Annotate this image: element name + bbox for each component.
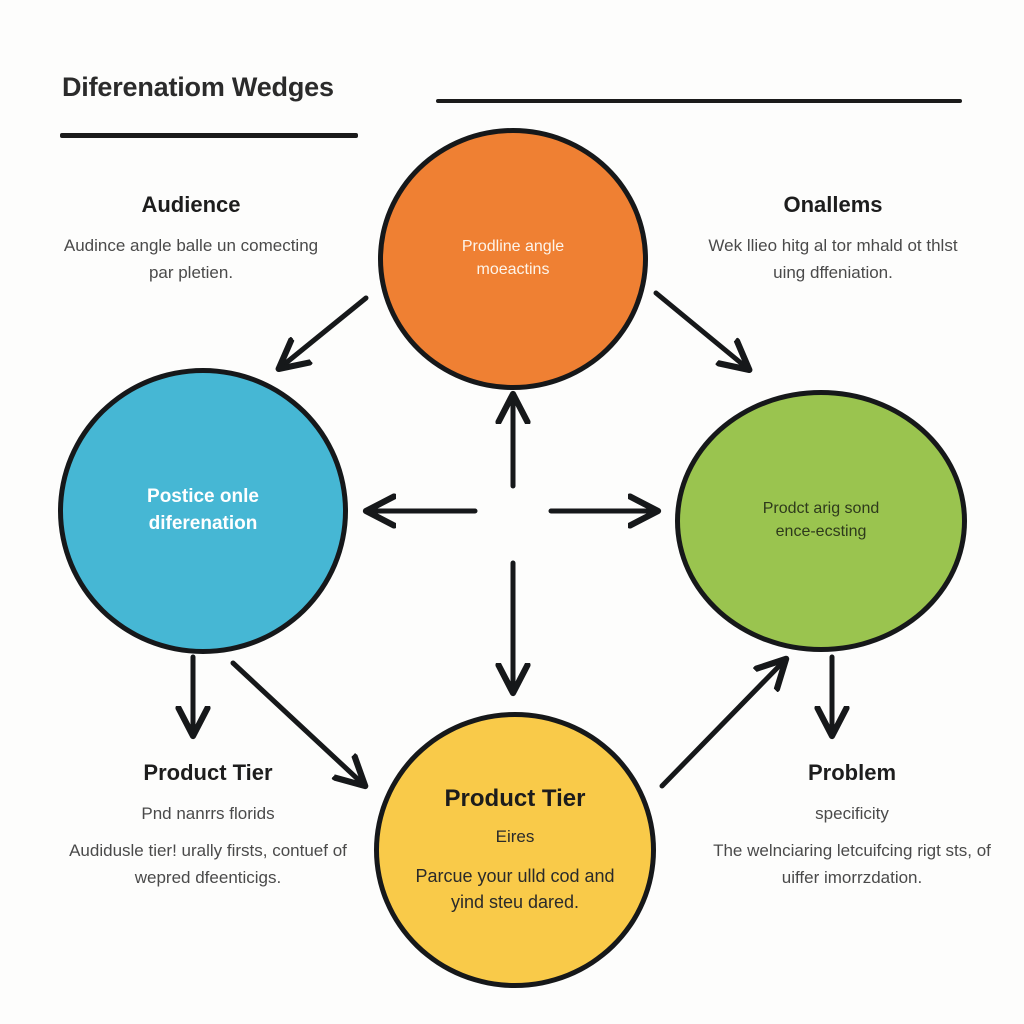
node-yellow-title: Product Tier bbox=[445, 785, 586, 813]
label-onallems-body: Wek llieo hitg al tor mhald ot thlst uin… bbox=[702, 232, 964, 286]
node-green-line2: ence-ecsting bbox=[776, 521, 867, 544]
label-problem-sub: specificity bbox=[706, 800, 998, 827]
node-orange[interactable]: Prodline angle moeactins bbox=[378, 128, 648, 390]
node-blue-line1: Postice onle bbox=[147, 484, 259, 511]
label-onallems-heading: Onallems bbox=[702, 192, 964, 218]
node-orange-line2: moeactins bbox=[477, 259, 550, 282]
node-orange-line1: Prodline angle bbox=[462, 236, 564, 259]
label-product-tier: Product Tier Pnd nanrrs florids Audidusl… bbox=[58, 760, 358, 892]
label-problem-heading: Problem bbox=[706, 760, 998, 786]
title-rule-right bbox=[436, 99, 962, 103]
label-audience-body: Audince angle balle un comecting par ple… bbox=[62, 232, 320, 286]
node-green[interactable]: Prodct arig sond ence-ecsting bbox=[675, 390, 967, 652]
node-green-line1: Prodct arig sond bbox=[763, 498, 880, 521]
node-blue[interactable]: Postice onle diferenation bbox=[58, 368, 348, 654]
label-product-tier-body: Audidusle tier! urally firsts, contuef o… bbox=[58, 837, 358, 891]
arrow-orange-to-green bbox=[656, 293, 747, 368]
node-yellow-subtitle: Eires bbox=[496, 827, 535, 847]
label-product-tier-heading: Product Tier bbox=[58, 760, 358, 786]
node-blue-line2: diferenation bbox=[149, 511, 258, 538]
page-title: Diferenatiom Wedges bbox=[62, 72, 334, 103]
label-problem: Problem specificity The welnciaring letc… bbox=[706, 760, 998, 892]
node-yellow-body: Parcue your ulld cod and yind steu dared… bbox=[405, 863, 625, 915]
title-underline bbox=[60, 133, 358, 138]
label-onallems: Onallems Wek llieo hitg al tor mhald ot … bbox=[702, 192, 964, 286]
label-product-tier-sub: Pnd nanrrs florids bbox=[58, 800, 358, 827]
label-audience-heading: Audience bbox=[62, 192, 320, 218]
arrow-orange-to-blue bbox=[281, 298, 366, 367]
diagram-canvas: Diferenatiom Wedges bbox=[0, 0, 1024, 1024]
label-problem-body: The welnciaring letcuifcing rigt sts, of… bbox=[706, 837, 998, 891]
node-yellow[interactable]: Product Tier Eires Parcue your ulld cod … bbox=[374, 712, 656, 988]
label-audience: Audience Audince angle balle un comectin… bbox=[62, 192, 320, 286]
